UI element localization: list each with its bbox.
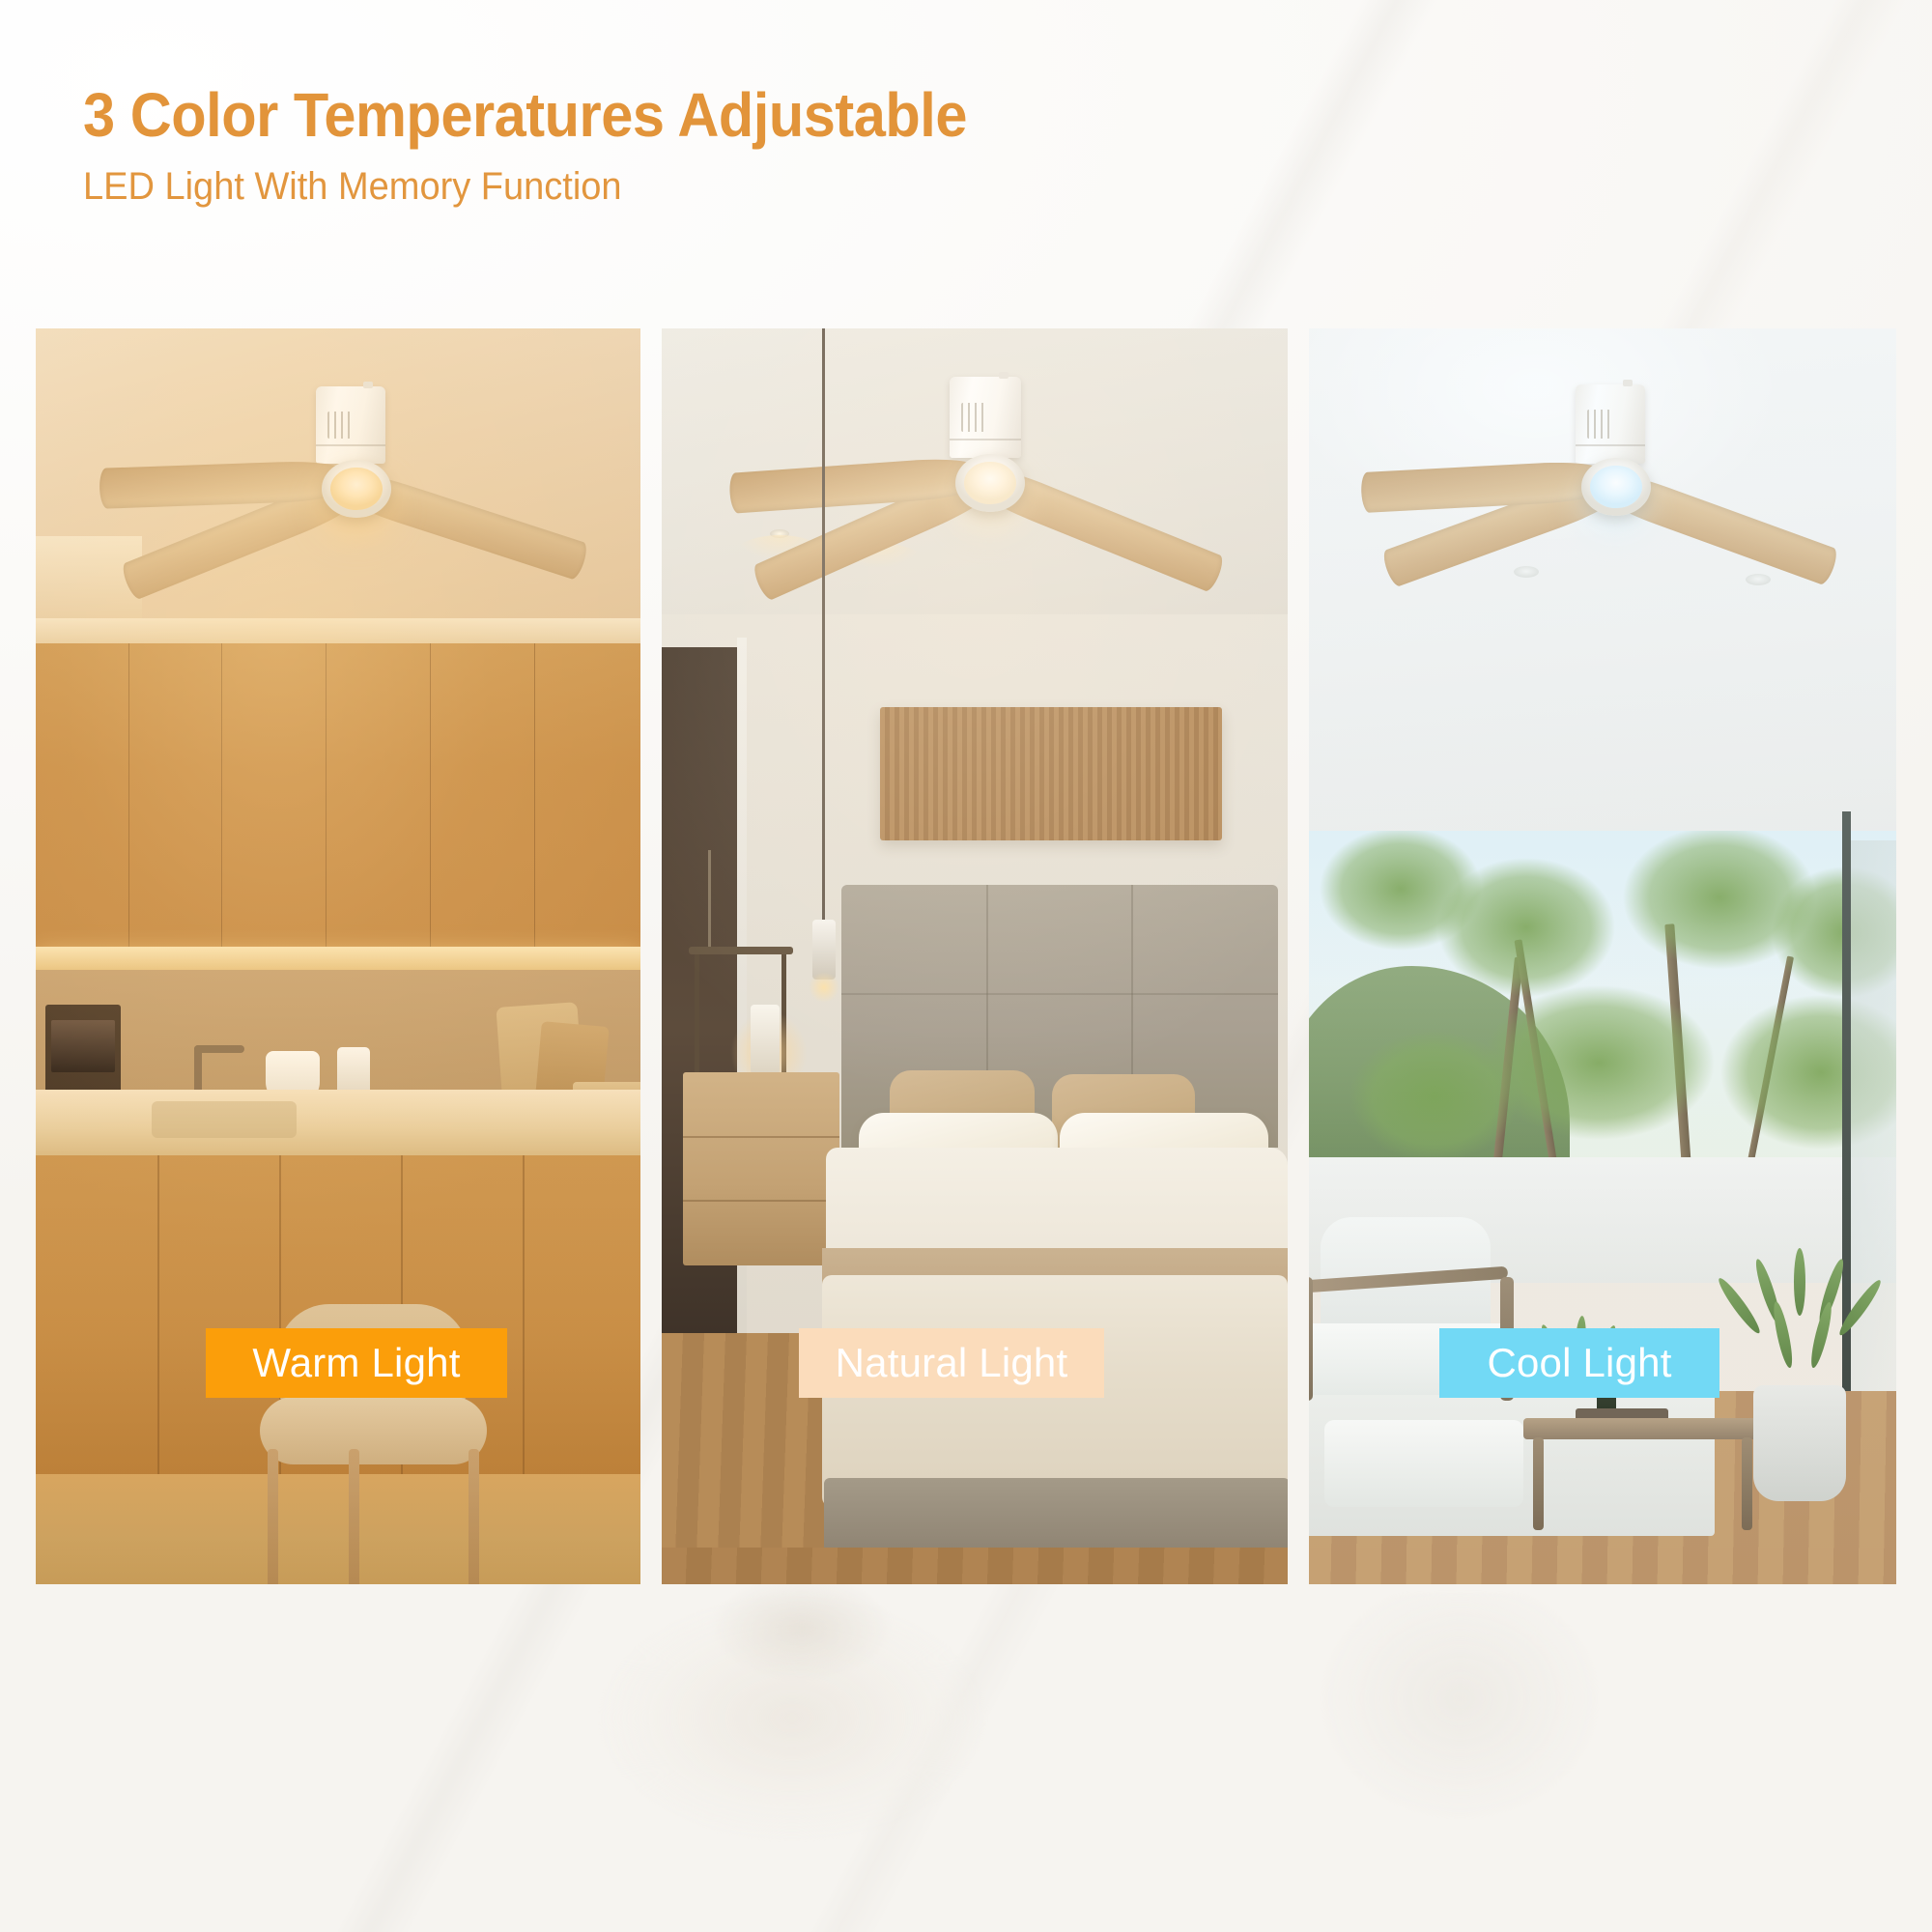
bedroom-nightstand xyxy=(683,1072,839,1265)
kitchen-countertop xyxy=(36,1090,640,1159)
fan-motor-seam xyxy=(950,439,1021,440)
page-title: 3 Color Temperatures Adjustable xyxy=(83,83,967,148)
ceiling-fan-natural xyxy=(662,328,1288,657)
fan-motor-nub xyxy=(1623,380,1633,386)
header: 3 Color Temperatures Adjustable LED Ligh… xyxy=(83,83,1034,208)
bedside-lamp xyxy=(751,1005,780,1074)
patio-potted-plant xyxy=(1734,1256,1869,1401)
bedroom-floor-front xyxy=(662,1548,1288,1584)
fan-led-housing xyxy=(1581,458,1651,516)
patio-view-window xyxy=(1309,831,1896,1159)
scene-label-warm: Warm Light xyxy=(206,1328,507,1398)
page-subtitle: LED Light With Memory Function xyxy=(83,165,986,208)
scene-label-cool: Cool Light xyxy=(1439,1328,1719,1398)
product-feature-page: 3 Color Temperatures Adjustable LED Ligh… xyxy=(0,0,1932,1932)
fan-motor-seam xyxy=(316,444,385,446)
fan-led-housing xyxy=(322,460,391,518)
fan-motor-vents xyxy=(1587,410,1610,439)
fan-motor-vents xyxy=(961,403,985,432)
kitchen-sink xyxy=(152,1101,297,1138)
bedroom-wall-art xyxy=(880,707,1222,840)
scene-label-natural: Natural Light xyxy=(799,1328,1104,1398)
kitchen-under-cabinet-light xyxy=(36,947,640,972)
patio-ottoman xyxy=(1324,1420,1523,1507)
patio-planter-pot xyxy=(1753,1385,1846,1501)
ceiling-fan-warm xyxy=(36,328,640,657)
fan-motor-nub xyxy=(999,372,1009,379)
fan-motor-housing xyxy=(950,377,1021,458)
patio-coffee-table-leg-left xyxy=(1533,1437,1544,1530)
fan-motor-nub xyxy=(363,382,373,388)
ceiling-fan-cool xyxy=(1309,328,1896,657)
fan-led-housing xyxy=(955,454,1025,512)
fan-motor-vents xyxy=(327,412,351,440)
fan-led-lens xyxy=(330,468,382,510)
patio-coffee-table xyxy=(1523,1418,1761,1439)
fan-motor-seam xyxy=(1576,444,1645,446)
pendant-cord xyxy=(822,328,825,927)
fan-led-lens xyxy=(1590,466,1641,508)
pendant-lamp-glow xyxy=(803,966,845,1009)
kitchen-upper-cabinets xyxy=(36,643,640,952)
bed-base xyxy=(824,1478,1288,1555)
color-temperature-section: COLOR TEMPERATURE 3000K 4000K 6000K xyxy=(0,1642,1932,1932)
bedroom-dried-branch xyxy=(708,850,711,952)
fan-led-lens xyxy=(964,462,1015,504)
patio-coffee-table-leg-right xyxy=(1742,1437,1752,1530)
